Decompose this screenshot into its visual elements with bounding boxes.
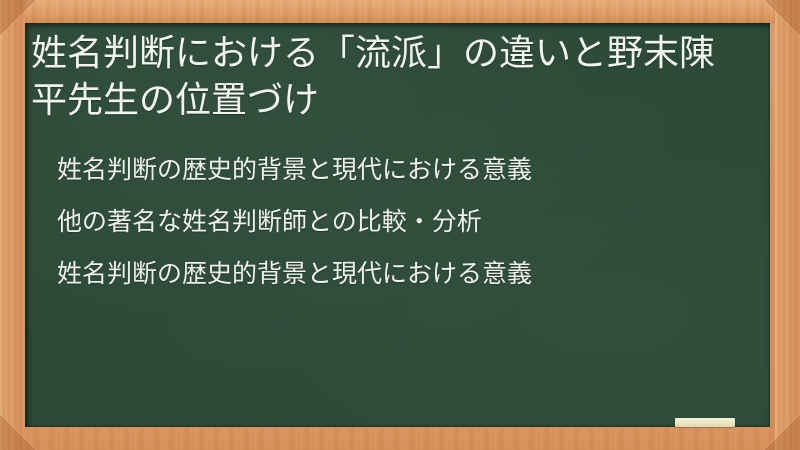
chalk-stick bbox=[675, 418, 735, 427]
chalkboard-content: 姓名判断における「流派」の違いと野末陳平先生の位置づけ 姓名判断の歴史的背景と現… bbox=[25, 23, 770, 427]
frame-rail-right bbox=[775, 0, 800, 450]
topic-list: 姓名判断の歴史的背景と現代における意義 他の著名な姓名判断師との比較・分析 姓名… bbox=[31, 144, 750, 300]
topic-list-item: 姓名判断の歴史的背景と現代における意義 bbox=[31, 248, 750, 300]
frame-rail-top bbox=[0, 0, 800, 23]
chalkboard-slide: 姓名判断における「流派」の違いと野末陳平先生の位置づけ 姓名判断の歴史的背景と現… bbox=[0, 0, 800, 450]
topic-list-item: 姓名判断の歴史的背景と現代における意義 bbox=[31, 144, 750, 196]
chalkboard-surface: 姓名判断における「流派」の違いと野末陳平先生の位置づけ 姓名判断の歴史的背景と現… bbox=[25, 23, 770, 427]
frame-rail-left bbox=[0, 0, 25, 450]
slide-title: 姓名判断における「流派」の違いと野末陳平先生の位置づけ bbox=[31, 30, 750, 124]
frame-rail-bottom bbox=[0, 427, 800, 450]
topic-list-item: 他の著名な姓名判断師との比較・分析 bbox=[31, 196, 750, 248]
